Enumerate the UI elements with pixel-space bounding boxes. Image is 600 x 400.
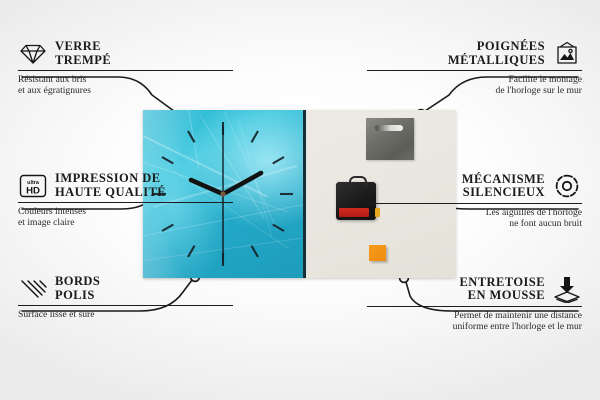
picture-frame-hanger-icon [552, 41, 582, 67]
feature-title: MÉCANISME SILENCIEUX [462, 173, 545, 200]
feature-description: Couleurs intenses et image claire [18, 206, 233, 229]
feature-poignees-metalliques: POIGNÉES MÉTALLIQUES Facilite le montage… [367, 40, 582, 97]
feature-divider [367, 306, 582, 307]
hanger-keyhole-slot [375, 125, 403, 131]
feature-entretoise-en-mousse: ENTRETOISE EN MOUSSE Permet de maintenir… [367, 275, 582, 333]
feature-description: Surface lisse et sûre [18, 309, 233, 320]
feature-divider [18, 305, 233, 306]
feature-verre-trempe: VERRE TREMPÉ Résistant aux bris et aux é… [18, 40, 233, 97]
foam-spacer-orange [369, 245, 386, 261]
feature-divider [367, 70, 582, 71]
feature-mecanisme-silencieux: MÉCANISME SILENCIEUX Les aiguilles de l'… [367, 172, 582, 230]
gear-icon [552, 172, 582, 200]
arrow-down-layers-icon [552, 275, 582, 303]
infographic-canvas: VERRE TREMPÉ Résistant aux bris et aux é… [0, 0, 600, 400]
feature-description: Facilite le montage de l'horloge sur le … [367, 74, 582, 97]
feature-title: POIGNÉES MÉTALLIQUES [448, 40, 545, 67]
polished-edge-lines-icon [18, 277, 48, 301]
feature-divider [18, 202, 233, 203]
svg-text:HD: HD [26, 185, 40, 196]
diamond-icon [18, 42, 48, 66]
feature-description: Résistant aux bris et aux égratignures [18, 74, 233, 97]
feature-divider [18, 70, 233, 71]
feature-title: BORDS POLIS [55, 275, 100, 302]
feature-impression-haute-qualite: ultra HD IMPRESSION DE HAUTE QUALITÉ Cou… [18, 172, 233, 229]
battery [339, 208, 369, 217]
feature-bords-polis: BORDS POLIS Surface lisse et sûre [18, 275, 233, 320]
feature-title: ENTRETOISE EN MOUSSE [459, 276, 545, 303]
feature-description: Permet de maintenir une distance uniform… [367, 310, 582, 333]
feature-divider [367, 203, 582, 204]
feature-title: VERRE TREMPÉ [55, 40, 111, 67]
ultra-hd-icon: ultra HD [18, 173, 48, 199]
feature-title: IMPRESSION DE HAUTE QUALITÉ [55, 172, 166, 199]
metal-hanger-plate [366, 118, 414, 160]
mechanism-hanger-loop [349, 176, 367, 186]
feature-description: Les aiguilles de l'horloge ne font aucun… [367, 207, 582, 230]
